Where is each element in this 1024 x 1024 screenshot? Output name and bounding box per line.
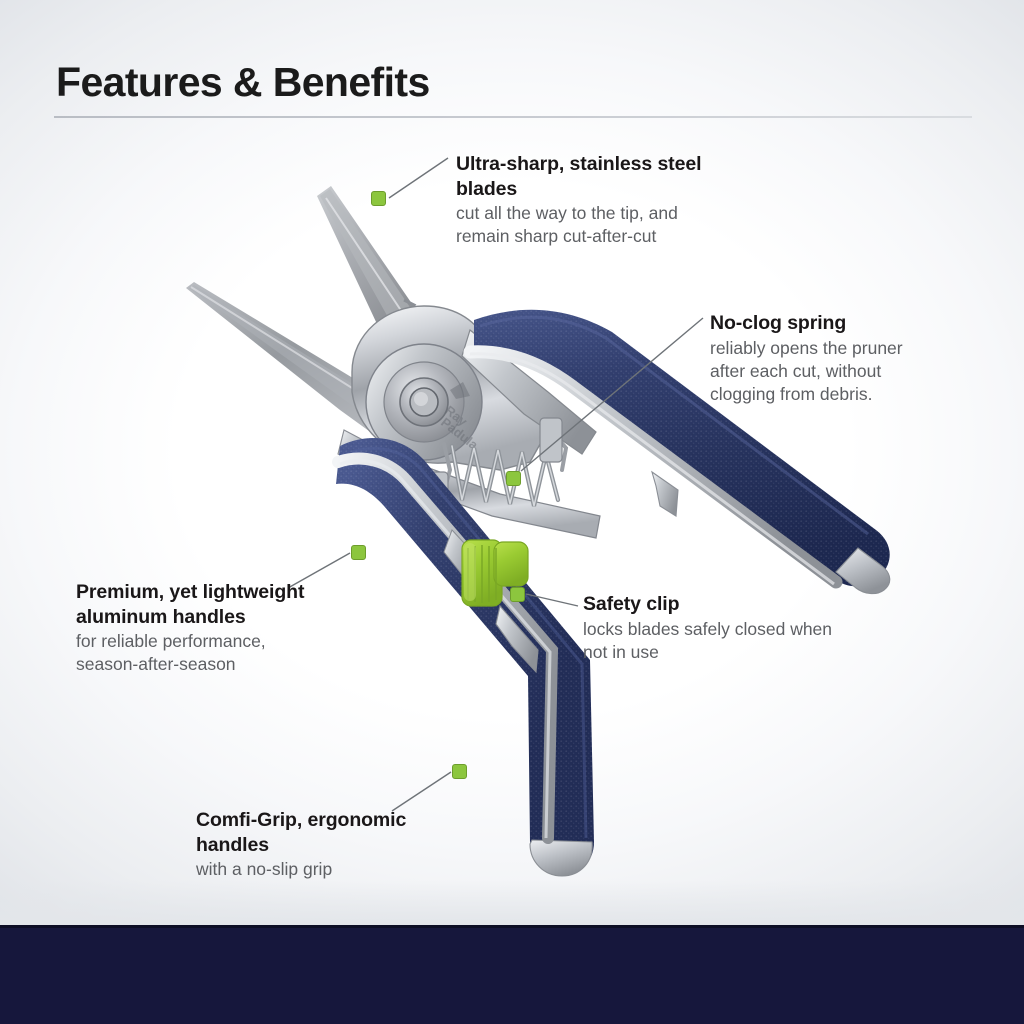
callout-safety: Safety clip locks blades safely closed w… <box>583 592 833 664</box>
callout-spring: No-clog spring reliably opens the pruner… <box>710 311 942 406</box>
marker-spring[interactable] <box>506 471 521 486</box>
marker-premium[interactable] <box>351 545 366 560</box>
callout-comfi-sub: with a no-slip grip <box>196 858 446 881</box>
infographic-page: Features & Benefits <box>0 0 1024 1024</box>
callout-premium: Premium, yet lightweight aluminum handle… <box>76 580 316 676</box>
callout-spring-sub: reliably opens the pruner after each cut… <box>710 337 942 406</box>
callout-spring-heading: No-clog spring <box>710 311 942 336</box>
callout-blades: Ultra-sharp, stainless steel blades cut … <box>456 152 724 248</box>
marker-blades[interactable] <box>371 191 386 206</box>
callout-safety-heading: Safety clip <box>583 592 833 617</box>
callout-comfi-heading: Comfi-Grip, ergonomic handles <box>196 808 446 857</box>
marker-comfi[interactable] <box>452 764 467 779</box>
marker-safety[interactable] <box>510 587 525 602</box>
callout-blades-sub: cut all the way to the tip, and remain s… <box>456 202 724 248</box>
callout-blades-heading: Ultra-sharp, stainless steel blades <box>456 152 724 201</box>
callout-safety-sub: locks blades safely closed when not in u… <box>583 618 833 664</box>
bottom-banner <box>0 928 1024 1024</box>
callout-comfi: Comfi-Grip, ergonomic handles with a no-… <box>196 808 446 881</box>
banner-fade <box>0 880 1024 925</box>
callout-premium-sub: for reliable performance, season-after-s… <box>76 630 316 676</box>
callout-premium-heading: Premium, yet lightweight aluminum handle… <box>76 580 316 629</box>
